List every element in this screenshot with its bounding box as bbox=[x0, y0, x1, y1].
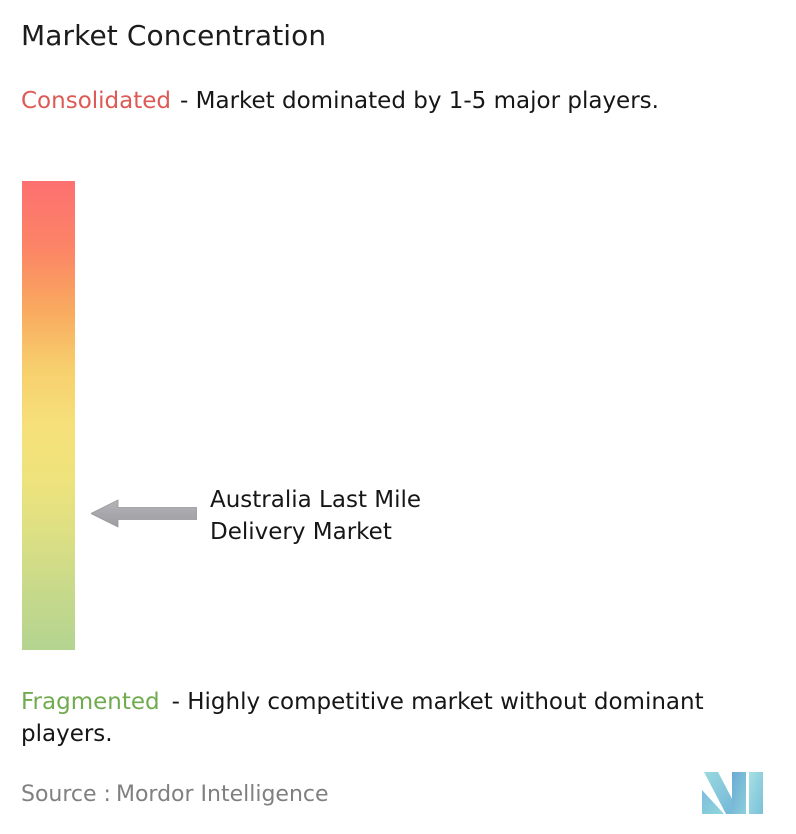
market-marker-label: Australia Last Mile Delivery Market bbox=[210, 484, 540, 548]
market-marker-label-line2: Delivery Market bbox=[210, 516, 540, 548]
legend-fragmented-dash: - bbox=[172, 689, 180, 715]
legend-consolidated-term: Consolidated bbox=[21, 88, 171, 114]
legend-consolidated: Consolidated- Market dominated by 1-5 ma… bbox=[21, 85, 777, 117]
page-title: Market Concentration bbox=[21, 19, 326, 53]
source-label: Source : bbox=[21, 782, 111, 807]
legend-fragmented-term: Fragmented bbox=[21, 689, 160, 715]
market-marker-label-line1: Australia Last Mile bbox=[210, 484, 540, 516]
mordor-intelligence-logo-icon bbox=[702, 770, 764, 816]
legend-consolidated-description: Market dominated by 1-5 major players. bbox=[196, 88, 659, 114]
source-name: Mordor Intelligence bbox=[116, 782, 329, 807]
legend-fragmented: Fragmented- Highly competitive market wi… bbox=[21, 686, 781, 750]
market-concentration-scale-bar bbox=[22, 181, 75, 650]
source-attribution: Source :Mordor Intelligence bbox=[21, 781, 329, 809]
arrow-left-icon bbox=[91, 497, 197, 530]
legend-consolidated-dash: - bbox=[180, 88, 188, 114]
